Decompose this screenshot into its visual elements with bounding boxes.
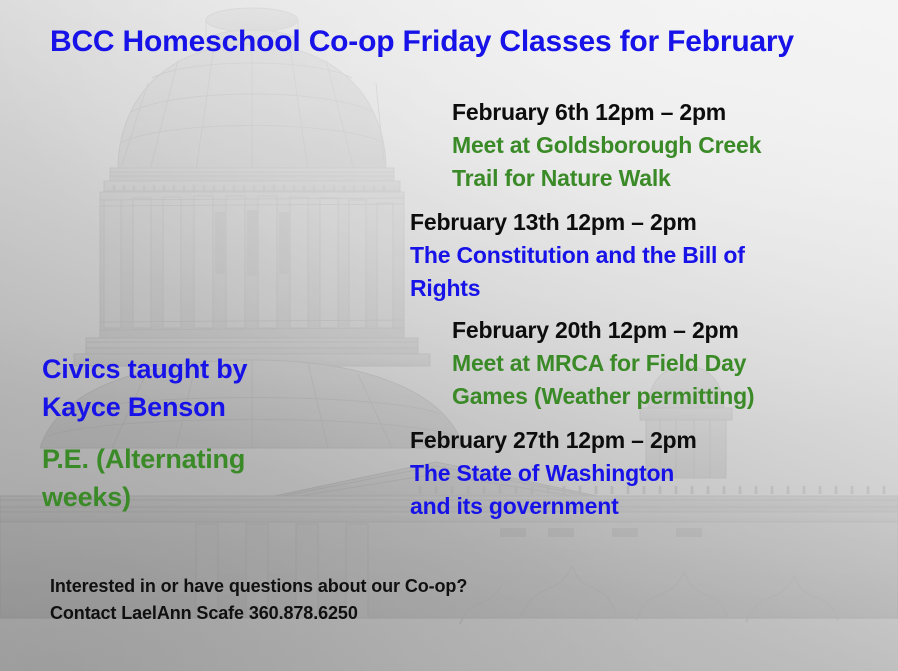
event-description-line2: Trail for Nature Walk: [452, 162, 872, 195]
event-date-time: February 27th 12pm – 2pm: [410, 424, 830, 457]
event-description-line2: and its government: [410, 490, 830, 523]
event-date-time: February 13th 12pm – 2pm: [410, 206, 830, 239]
contact-footer: Interested in or have questions about ou…: [50, 573, 650, 627]
event-date-time: February 6th 12pm – 2pm: [452, 96, 872, 129]
event-date-time: February 20th 12pm – 2pm: [452, 314, 872, 347]
event-block-february-6: February 6th 12pm – 2pm Meet at Goldsbor…: [452, 96, 872, 195]
event-block-february-20: February 20th 12pm – 2pm Meet at MRCA fo…: [452, 314, 872, 413]
civics-instructor-block: Civics taught by Kayce Benson: [42, 350, 372, 426]
event-block-february-13: February 13th 12pm – 2pm The Constitutio…: [410, 206, 830, 305]
pe-line2: weeks): [42, 478, 372, 516]
footer-line1: Interested in or have questions about ou…: [50, 573, 650, 600]
event-description-line1: Meet at MRCA for Field Day: [452, 347, 872, 380]
event-description-line1: Meet at Goldsborough Creek: [452, 129, 872, 162]
event-block-february-27: February 27th 12pm – 2pm The State of Wa…: [410, 424, 830, 523]
civics-line1: Civics taught by: [42, 350, 372, 388]
footer-line2: Contact LaelAnn Scafe 360.878.6250: [50, 600, 650, 627]
event-description-line1: The Constitution and the Bill of: [410, 239, 830, 272]
civics-line2: Kayce Benson: [42, 388, 372, 426]
slide-canvas: BCC Homeschool Co-op Friday Classes for …: [0, 0, 898, 671]
slide-title: BCC Homeschool Co-op Friday Classes for …: [50, 25, 880, 59]
pe-schedule-block: P.E. (Alternating weeks): [42, 440, 372, 516]
event-description-line1: The State of Washington: [410, 457, 830, 490]
event-description-line2: Games (Weather permitting): [452, 380, 872, 413]
event-description-line2: Rights: [410, 272, 830, 305]
pe-line1: P.E. (Alternating: [42, 440, 372, 478]
